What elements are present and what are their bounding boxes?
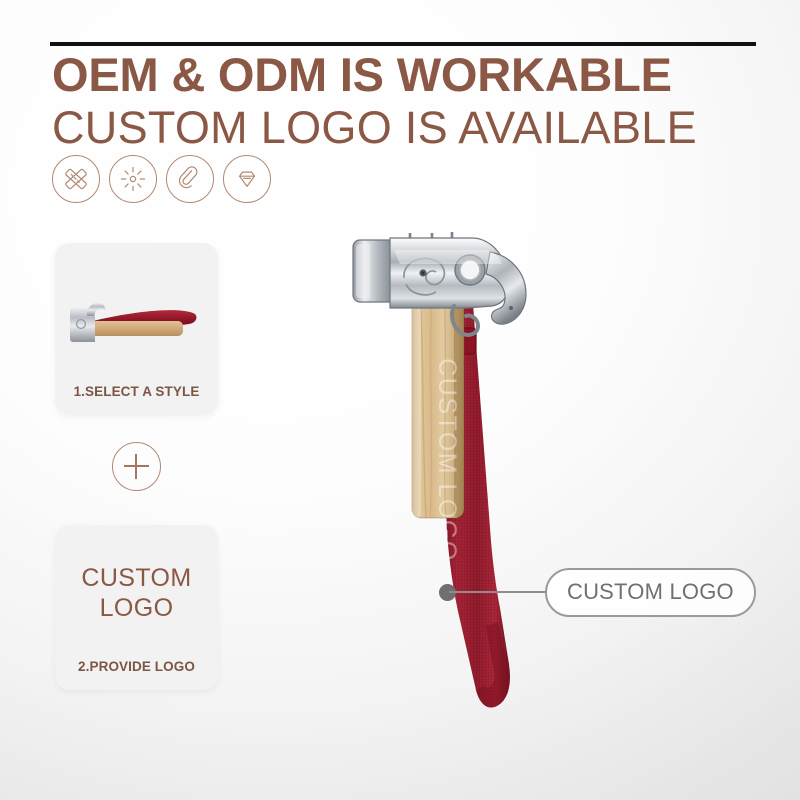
custom-logo-line1: CUSTOM bbox=[81, 564, 191, 592]
hammer-thumbnail bbox=[65, 277, 208, 369]
headline-secondary: CUSTOM LOGO IS AVAILABLE bbox=[52, 103, 772, 153]
engraved-logo-text: CUSTOM LOGO bbox=[433, 358, 461, 562]
callout-leader-line bbox=[449, 591, 548, 593]
sunburst-icon bbox=[109, 155, 157, 203]
custom-logo-placeholder: CUSTOM LOGO bbox=[55, 563, 218, 623]
headline-primary: OEM & ODM IS WORKABLE bbox=[52, 50, 772, 100]
callout-label: CUSTOM LOGO bbox=[545, 568, 756, 617]
diamond-icon bbox=[223, 155, 271, 203]
custom-logo-line2: LOGO bbox=[100, 594, 174, 622]
step-card-select-style[interactable]: 1.SELECT A STYLE bbox=[55, 243, 218, 415]
step-caption: 1.SELECT A STYLE bbox=[55, 384, 218, 399]
step-caption: 2.PROVIDE LOGO bbox=[55, 659, 218, 674]
step-card-provide-logo[interactable]: CUSTOM LOGO 2.PROVIDE LOGO bbox=[55, 525, 218, 690]
banner-canvas: OEM & ODM IS WORKABLE CUSTOM LOGO IS AVA… bbox=[0, 0, 800, 800]
feature-icon-row bbox=[52, 155, 271, 203]
product-hammer: CUSTOM LOGO bbox=[340, 228, 600, 738]
ruler-pencil-icon bbox=[52, 155, 100, 203]
headline-block: OEM & ODM IS WORKABLE CUSTOM LOGO IS AVA… bbox=[52, 50, 772, 153]
plus-icon bbox=[112, 442, 161, 491]
header-divider bbox=[50, 42, 756, 46]
paperclip-icon bbox=[166, 155, 214, 203]
